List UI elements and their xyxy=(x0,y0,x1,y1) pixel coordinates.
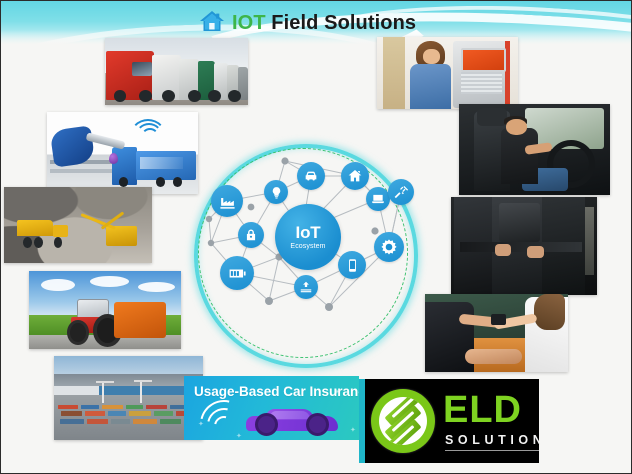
shipping-port-photo xyxy=(54,356,203,440)
eld-emblem-icon xyxy=(371,389,435,453)
lock-icon xyxy=(244,228,258,242)
node-gear-icon[interactable] xyxy=(374,232,404,262)
node-cloud-upload-icon[interactable] xyxy=(294,275,318,299)
node-home-icon[interactable] xyxy=(341,162,369,190)
home-icon xyxy=(199,9,225,38)
title-rest: Field Solutions xyxy=(266,12,417,34)
law-enforcement-photo xyxy=(451,197,597,295)
truck-fleet-photo xyxy=(105,38,248,105)
banner-title: Usage-Based Car Insurance xyxy=(194,384,359,399)
satellite-icon xyxy=(394,185,409,200)
page-title: IOT Field Solutions xyxy=(199,6,416,40)
atm-kiosk-photo xyxy=(377,37,518,109)
cloud-upload-icon xyxy=(299,280,313,294)
eld-secondary-text: SOLUTIONS xyxy=(445,434,539,451)
page-title-text: IOT Field Solutions xyxy=(232,13,416,33)
node-lightbulb-icon[interactable] xyxy=(264,180,288,204)
node-battery-icon[interactable] xyxy=(220,256,254,290)
factory-icon xyxy=(219,193,236,210)
node-car-icon[interactable] xyxy=(297,162,325,190)
laptop-icon xyxy=(371,192,385,206)
car-key-icon xyxy=(491,314,507,325)
car-key-handover-photo xyxy=(425,294,568,372)
eld-solutions-logo: ELD SOLUTIONS xyxy=(359,379,539,463)
fuel-dispensing-photo xyxy=(47,112,198,194)
node-smartphone-icon[interactable] xyxy=(338,251,366,279)
iot-center-main: IoT xyxy=(296,224,321,241)
mining-equipment-photo xyxy=(4,187,152,263)
iot-ecosystem-diagram: IoT Ecosystem xyxy=(189,139,415,367)
title-iot: IOT xyxy=(232,12,266,34)
home-icon xyxy=(347,168,363,184)
lightbulb-icon xyxy=(270,186,283,199)
iot-center-label: IoT Ecosystem xyxy=(275,204,341,270)
battery-icon xyxy=(228,264,247,283)
agriculture-tractor-photo xyxy=(29,271,181,349)
car-illustration xyxy=(246,408,338,436)
iot-center-sub: Ecosystem xyxy=(290,243,325,250)
node-laptop-icon[interactable] xyxy=(366,187,390,211)
node-lock-icon[interactable] xyxy=(238,222,264,248)
car-icon xyxy=(303,168,319,184)
eld-accent-bar xyxy=(359,379,365,463)
usage-based-car-insurance-banner: ✦ ✦ ✦ ✦ Usage-Based Car Insurance xyxy=(184,376,359,440)
driver-in-vehicle-photo xyxy=(459,104,610,195)
node-satellite-icon[interactable] xyxy=(388,179,414,205)
node-factory-icon[interactable] xyxy=(211,185,243,217)
slide-canvas: IOT Field Solutions xyxy=(0,0,632,474)
smartphone-icon xyxy=(345,258,360,273)
gear-icon xyxy=(380,238,398,256)
eld-primary-text: ELD xyxy=(443,391,522,429)
